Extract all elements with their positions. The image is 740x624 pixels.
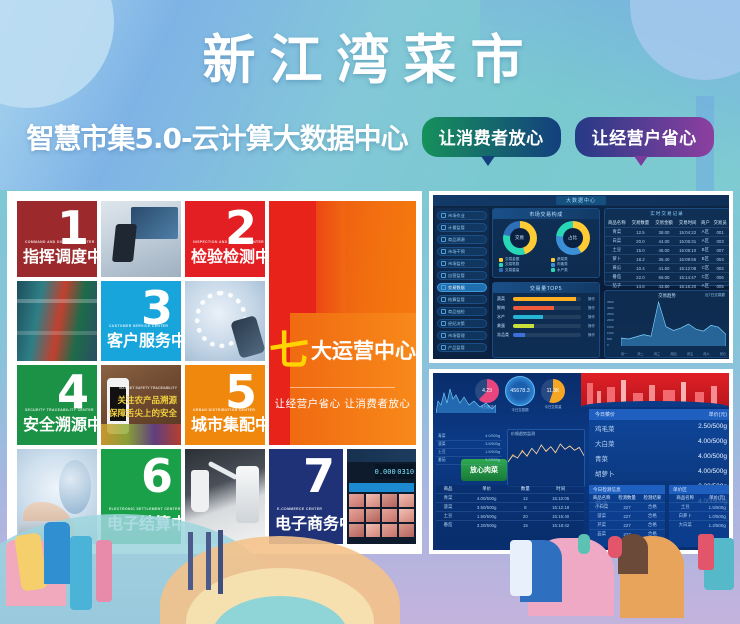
price-board: 今日菜价 单价(元) 鸡毛菜2.50/500g大白菜4.00/500g青菜4.0… (589, 409, 729, 481)
menu-label: 产品监管 (448, 345, 465, 351)
legend-swatch (551, 268, 555, 272)
table-cell: 38.00 (652, 228, 676, 237)
rank-row: 鲜肉操作 (497, 305, 595, 311)
photo-market-shelf (17, 281, 97, 361)
table-cell: 韭菜 (589, 530, 614, 539)
left-mini-chart (436, 379, 496, 429)
centers-board: 1 COMMAND AND DISPATCH CENTER 指挥调度中心 2 I… (7, 191, 422, 554)
tile-3-label: 客户服务中心 (107, 327, 177, 351)
table-cell: 002 (711, 264, 729, 273)
photo-qr-line2: 保障舌尖上的安全 (109, 407, 177, 419)
rank-row: 禽蛋操作 (497, 323, 595, 329)
check-table: 商品名称检测数量检测结果小白菜227合格菠菜227合格芹菜227合格韭菜227合… (589, 494, 665, 538)
legend-item: 水产类 (551, 268, 597, 273)
left-record-row: 菠菜3.50/500g815:12:18 (436, 503, 584, 512)
rank-bar-fill (513, 333, 525, 337)
menu-icon (441, 333, 446, 338)
check-row: 芹菜227合格 (589, 521, 665, 530)
table-cell: 20.0 (629, 237, 653, 246)
left-stat-name: 菠菜 (438, 442, 446, 447)
left-stat-value: 3.5/500g (485, 442, 500, 447)
column-header: 数量 (513, 485, 537, 494)
records-row: 茄子14.643.8015:16:20A区005 (605, 282, 729, 291)
menu-icon (441, 261, 446, 266)
tile-5-label: 城市集配中心 (191, 411, 261, 435)
table-cell: 005 (711, 282, 729, 291)
tile-7[interactable]: 7 E-COMMERCE CENTER 电子商务中心 (269, 449, 343, 544)
unit-row: 白萝卜1.0/500g (669, 512, 729, 521)
menu-label: 商品抽检 (448, 309, 465, 315)
table-cell: 15:04:22 (676, 228, 700, 237)
table-cell: 土豆 (669, 503, 701, 512)
table-cell: 青菜 (605, 228, 629, 237)
tile-5[interactable]: 5 URBAN DISTRIBUTION CENTER 城市集配中心 (185, 365, 265, 445)
table-cell: 番茄 (605, 273, 629, 282)
table-cell: 合格 (640, 521, 665, 530)
y-tick: 3500 (607, 300, 620, 304)
table-cell: 227 (614, 512, 639, 521)
donut-2-center: 占比 (563, 228, 583, 248)
dashboard-menu-item-9[interactable]: 商品抽检 (437, 307, 487, 316)
rank-bar (513, 324, 581, 328)
table-cell: 227 (614, 521, 639, 530)
table-cell: 15:09:55 (676, 255, 700, 264)
check-table-title: 今日检测信息 (589, 485, 665, 494)
badge-merchant: 让经营户省心 (575, 117, 714, 157)
dashboard-bottom-board: 4.23 今日客流 45678.3 今日交易额 11.3K 今日交易量 (429, 369, 733, 554)
table-cell: 66.00 (652, 273, 676, 282)
photo-qr-line1: 关注农产品溯源 (117, 394, 177, 406)
tile-1[interactable]: 1 COMMAND AND DISPATCH CENTER 指挥调度中心 (17, 201, 97, 277)
center-panel-title: 大运营中心 (311, 339, 416, 363)
rank-rows: 蔬菜操作鲜肉操作水产操作禽蛋操作冻品类操作 (493, 293, 599, 344)
table-cell: 3.20/500g (460, 521, 513, 530)
price-board-title: 今日菜价 (595, 411, 615, 418)
table-cell: B区 (699, 255, 711, 264)
area-chart-xaxis: 周一周二周三周四周五周六周日 (621, 352, 726, 356)
menu-icon (441, 225, 446, 230)
table-cell: A区 (699, 237, 711, 246)
table-cell: 15.0 (629, 246, 653, 255)
table-cell: 萝卜 (605, 255, 629, 264)
menu-label: 商品溯源 (448, 237, 465, 243)
table-cell: 合格 (640, 530, 665, 539)
legend-swatch (551, 263, 555, 267)
table-cell: 白菜 (605, 237, 629, 246)
badge-consumer: 让消费者放心 (422, 117, 561, 157)
table-cell: 14.6 (629, 282, 653, 291)
rank-bar-fill (513, 297, 576, 301)
records-table: 商品名称交易数量交易金额交易时间商户交易员青菜12.538.0015:04:22… (605, 219, 729, 290)
rank-row: 冻品类操作 (497, 332, 595, 338)
header: 新江湾菜市 智慧市集5.0-云计算大数据中心 让消费者放心 让经营户省心 (0, 0, 740, 190)
left-records-table: 商品单价数量时间青菜4.00/500g1215:10:05菠菜3.50/500g… (436, 485, 584, 529)
y-tick: 2000 (607, 318, 620, 322)
table-cell: 芹菜 (589, 521, 614, 530)
left-stat-row: 土豆1.5/500g (436, 449, 502, 457)
tile-6-label: 电子结算中心 (107, 510, 177, 534)
left-stat-value: 1.5/500g (485, 450, 500, 455)
table-cell: A区 (699, 228, 711, 237)
table-cell: 合格 (640, 512, 665, 521)
legend-swatch (499, 258, 503, 262)
dashboard-menu-item-3[interactable]: 商品溯源 (437, 235, 487, 244)
price-row: 青菜4.00/500g (589, 450, 729, 465)
table-cell: 菠菜 (436, 503, 460, 512)
menu-label: 市场管理 (448, 333, 465, 339)
rank-unit: 操作 (583, 333, 595, 338)
dashboard-menu-item-11[interactable]: 市场管理 (437, 331, 487, 340)
table-cell: 15:15:40 (537, 512, 584, 521)
rank-card-title: 交易量TOP5 (493, 283, 599, 293)
records-row: 萝卜18.236.4015:09:55B区004 (605, 255, 729, 264)
x-tick: 周日 (720, 352, 726, 356)
records-row: 番茄22.066.0015:14:47C区006 (605, 273, 729, 282)
table-cell: A区 (699, 282, 711, 291)
kpi-3: 11.3K 今日交易量 (541, 379, 565, 409)
unit-table-card: 单价区 商品名称单价(元)土豆1.5/500g白萝卜1.0/500g大白菜1.2… (669, 485, 729, 547)
menu-label: 结算监管 (448, 297, 465, 303)
table-cell: 12.5 (629, 228, 653, 237)
table-cell: 44.00 (652, 237, 676, 246)
dashboard-sidebar: 市场作业计量监管商品溯源市场干预市场监控自营监管交易数据结算监管商品抽检经纪决策… (435, 208, 489, 355)
table-cell: 1.50/500g (460, 512, 513, 521)
table-header-row: 商品单价数量时间 (436, 485, 584, 494)
photo-command-room (101, 201, 181, 277)
left-stat-row: 菠菜3.5/500g (436, 441, 502, 449)
y-tick: 2500 (607, 312, 620, 316)
rank-name: 禽蛋 (497, 323, 511, 329)
price-item-value: 2.50/500g (698, 423, 727, 433)
table-cell: 小白菜 (589, 503, 614, 512)
table-cell: 大白菜 (669, 521, 701, 530)
column-header: 交易金额 (652, 219, 676, 228)
table-cell: 15:18:42 (537, 521, 584, 530)
price-row: 大白菜4.00/500g (589, 435, 729, 450)
rank-bar (513, 315, 581, 319)
rank-bar (513, 306, 581, 310)
price-row: 胡萝卜4.00/500g (589, 465, 729, 480)
illustration-arc-2 (186, 568, 374, 624)
column-header: 交易时间 (676, 219, 700, 228)
center-panel-subtitle: 让经营户省心 让消费者放心 (269, 396, 416, 411)
poster-root: 新江湾菜市 智慧市集5.0-云计算大数据中心 让消费者放心 让经营户省心 1 C… (0, 0, 740, 624)
area-chart-title: 交易趋势 (658, 293, 676, 299)
menu-label: 市场作业 (448, 213, 465, 219)
table-cell: 18.2 (629, 255, 653, 264)
table-cell: 1.2/500g (701, 521, 729, 530)
table-header-row: 商品名称交易数量交易金额交易时间商户交易员 (605, 219, 729, 228)
check-row: 菠菜227合格 (589, 512, 665, 521)
rank-unit: 操作 (583, 297, 595, 302)
page-title: 新江湾菜市 (0, 18, 740, 94)
table-cell: 227 (614, 503, 639, 512)
page-subtitle: 智慧市集5.0-云计算大数据中心 (26, 117, 407, 157)
illustration-arc-3 (212, 596, 348, 624)
area-chart-yaxis: 3500300025002000150010005000 (607, 300, 620, 347)
kpi-2-value: 45678.3 (510, 388, 530, 394)
donut-chart-2: 占比 (556, 221, 590, 255)
rank-name: 蔬菜 (497, 296, 511, 302)
legend-label: 交易重量 (505, 268, 519, 273)
y-tick: 1000 (607, 331, 620, 335)
menu-icon (441, 345, 446, 350)
menu-label: 市场监控 (448, 261, 465, 267)
left-stat-value: 3.2/500g (485, 458, 500, 463)
dashboard-menu-item-10[interactable]: 经纪决策 (437, 319, 487, 328)
menu-label: 计量监管 (448, 225, 465, 231)
donut-legend-1: 交易金额交易笔数交易重量 (499, 257, 545, 273)
tile-1-label: 指挥调度中心 (23, 243, 93, 267)
table-cell: 土豆 (436, 512, 460, 521)
rank-unit: 操作 (583, 324, 595, 329)
table-cell: 白萝卜 (669, 512, 701, 521)
menu-icon (441, 321, 446, 326)
menu-label: 经纪决策 (448, 321, 465, 327)
table-cell: C区 (699, 273, 711, 282)
column-header: 交易数量 (629, 219, 653, 228)
menu-label: 市场干预 (448, 249, 465, 255)
kpi-2: 45678.3 今日交易额 (505, 376, 535, 412)
column-header: 时间 (537, 485, 584, 494)
table-cell: 10.4 (629, 264, 653, 273)
unit-row: 土豆1.5/500g (669, 503, 729, 512)
price-item-name: 胡萝卜 (595, 468, 615, 478)
table-cell: 12 (513, 494, 537, 503)
table-cell: 227 (614, 530, 639, 539)
table-cell: 3.50/500g (460, 503, 513, 512)
tile-2[interactable]: 2 INSPECTION AND TESTING CENTER 检验检测中心 (185, 201, 265, 277)
donut-chart-1: 交易 (503, 221, 537, 255)
pos-price: 0310 (397, 464, 414, 479)
skyline-banner (581, 373, 729, 407)
rank-bar-fill (513, 306, 554, 310)
dashboard-menu-item-8[interactable]: 结算监管 (437, 295, 487, 304)
check-row: 韭菜227合格 (589, 530, 665, 539)
records-row: 青菜12.538.0015:04:22A区001 (605, 228, 729, 237)
rank-name: 鲜肉 (497, 305, 511, 311)
dashboard-menu-item-1[interactable]: 市场作业 (437, 211, 487, 220)
table-cell: 青菜 (436, 494, 460, 503)
left-record-row: 土豆1.50/500g2015:15:40 (436, 512, 584, 521)
table-cell: 006 (711, 273, 729, 282)
tile-4-label: 安全溯源中心 (23, 411, 93, 435)
table-cell: 番茄 (436, 521, 460, 530)
dashboard-titlebar: 大数据中心 (433, 195, 729, 206)
rank-bar-fill (513, 324, 534, 328)
rank-row: 蔬菜操作 (497, 296, 595, 302)
rank-bar-fill (513, 315, 543, 319)
rank-bar (513, 297, 581, 301)
rank-card: 交易量TOP5 蔬菜操作鲜肉操作水产操作禽蛋操作冻品类操作 (492, 282, 600, 358)
y-tick: 3000 (607, 306, 620, 310)
column-header: 单价(元) (701, 494, 729, 503)
subtitle-row: 智慧市集5.0-云计算大数据中心 让消费者放心 让经营户省心 (0, 117, 740, 157)
price-item-name: 大白菜 (595, 438, 615, 448)
donut-1-center: 交易 (510, 228, 530, 248)
dashboard-menu-item-12[interactable]: 产品监管 (437, 343, 487, 352)
table-cell: 土豆 (605, 246, 629, 255)
unit-table: 商品名称单价(元)土豆1.5/500g白萝卜1.0/500g大白菜1.2/500… (669, 494, 729, 529)
table-cell: 45.00 (652, 246, 676, 255)
rank-bar (513, 333, 581, 337)
table-cell: 菠菜 (589, 512, 614, 521)
left-stat-name: 土豆 (438, 450, 446, 455)
column-header: 单价 (460, 485, 513, 494)
dashboard-menu-item-2[interactable]: 计量监管 (437, 223, 487, 232)
dashboard-bottom-screen: 4.23 今日客流 45678.3 今日交易额 11.3K 今日交易量 (433, 373, 729, 550)
tile-7-number: 7 (303, 453, 335, 499)
photo-traceability-qr: MARKET SAFETY TRACEABILITY 关注农产品溯源 保障舌尖上… (101, 365, 181, 445)
table-header-row: 商品名称单价(元) (669, 494, 729, 503)
left-records-card: 商品单价数量时间青菜4.00/500g1215:10:05菠菜3.50/500g… (436, 485, 584, 547)
center-panel-divider (290, 387, 396, 388)
kpi-2-label: 今日交易额 (505, 407, 535, 412)
left-stat-name: 青菜 (438, 434, 446, 439)
column-header: 交易员 (711, 219, 729, 228)
table-cell: 003 (711, 237, 729, 246)
price-board-header: 今日菜价 单价(元) (589, 409, 729, 420)
area-chart-svg (621, 300, 726, 346)
records-row: 白菜20.044.0015:06:31A区003 (605, 237, 729, 246)
menu-icon (441, 213, 446, 218)
table-cell: 41.60 (652, 264, 676, 273)
price-item-value: 4.00/500g (698, 438, 727, 448)
records-row: 土豆15.045.0015:08:10B区007 (605, 246, 729, 255)
table-cell: 8 (513, 503, 537, 512)
column-header: 检测结果 (640, 494, 665, 503)
table-cell: 黄瓜 (605, 264, 629, 273)
tile-2-label: 检验检测中心 (191, 243, 261, 267)
unit-row: 大白菜1.2/500g (669, 521, 729, 530)
table-cell: 1.5/500g (701, 503, 729, 512)
records-card: 实时交易记录 商品名称交易数量交易金额交易时间商户交易员青菜12.538.001… (604, 208, 729, 286)
donut-card: 市场交易构成 交易 占比 交易金额交易笔数交易重量 蔬菜类肉禽类水产类 (492, 208, 600, 278)
table-cell: 4.00/500g (460, 494, 513, 503)
menu-icon (441, 249, 446, 254)
tile-3[interactable]: 3 CUSTOMER SERVICE CENTER 客户服务中心 (101, 281, 181, 361)
pos-weight: 0.000 (375, 464, 396, 479)
table-cell: C区 (699, 264, 711, 273)
centers-grid: 1 COMMAND AND DISPATCH CENTER 指挥调度中心 2 I… (13, 197, 416, 548)
table-cell: 合格 (640, 503, 665, 512)
area-chart-card: 交易趋势 近7日交易额 3500300025002000150010005000… (604, 290, 729, 358)
table-cell: 22.0 (629, 273, 653, 282)
column-header: 商品名称 (589, 494, 614, 503)
kpi-3-value: 11.3K (547, 388, 560, 394)
menu-label: 交易数据 (448, 285, 465, 291)
unit-table-title: 单价区 (669, 485, 729, 494)
legend-label: 水产类 (557, 268, 568, 273)
price-item-value: 4.00/500g (698, 468, 727, 478)
table-cell: 36.40 (652, 255, 676, 264)
photo-iot-network (185, 281, 265, 361)
menu-icon (441, 309, 446, 314)
dashboard-body: 市场交易构成 交易 占比 交易金额交易笔数交易重量 蔬菜类肉禽类水产类 (492, 208, 726, 355)
table-cell: 15:10:05 (537, 494, 584, 503)
tile-4[interactable]: 4 SECURITY TRACEABILITY CENTER 安全溯源中心 (17, 365, 97, 445)
x-tick: 周三 (654, 352, 660, 356)
table-cell: 15:06:31 (676, 237, 700, 246)
records-row: 黄瓜10.441.6015:12:08C区002 (605, 264, 729, 273)
dashboard-window-title: 大数据中心 (556, 196, 606, 205)
x-tick: 周五 (687, 352, 693, 356)
donut-legend-2: 蔬菜类肉禽类水产类 (551, 257, 597, 273)
check-row: 小白菜227合格 (589, 503, 665, 512)
table-cell: 15 (513, 521, 537, 530)
dashboard-menu-item-7[interactable]: 交易数据 (437, 283, 487, 292)
kpi-3-label: 今日交易量 (541, 404, 565, 409)
rank-unit: 操作 (583, 315, 595, 320)
column-header: 商品名称 (605, 219, 629, 228)
price-item-name: 青菜 (595, 453, 608, 463)
table-cell: B区 (699, 246, 711, 255)
table-cell: 001 (711, 228, 729, 237)
column-header: 商品 (436, 485, 460, 494)
x-tick: 周二 (637, 352, 643, 356)
records-card-title: 实时交易记录 (605, 209, 729, 219)
left-stats: 青菜4.0/500g菠菜3.5/500g土豆1.5/500g番茄3.2/500g (436, 433, 502, 481)
photo-ecommerce-people (17, 449, 97, 544)
price-board-unit: 单价(元) (709, 411, 727, 418)
column-header: 商品名称 (669, 494, 701, 503)
legend-swatch (499, 268, 503, 272)
legend-swatch (499, 263, 503, 267)
menu-label: 自营监管 (448, 273, 465, 279)
legend-swatch (551, 258, 555, 262)
tile-7-label: 电子商务中心 (275, 510, 339, 534)
rank-row: 水产操作 (497, 314, 595, 320)
dashboard-menu-item-6[interactable]: 自营监管 (437, 271, 487, 280)
area-chart-legend: 近7日交易额 (705, 293, 725, 298)
menu-icon (441, 297, 446, 302)
dashboard-menu-item-5[interactable]: 市场监控 (437, 259, 487, 268)
left-record-row: 番茄3.20/500g1515:18:42 (436, 521, 584, 530)
left-stat-row: 番茄3.2/500g (436, 457, 502, 465)
column-header: 检测数量 (614, 494, 639, 503)
table-header-row: 商品名称检测数量检测结果 (589, 494, 665, 503)
x-tick: 周四 (670, 352, 676, 356)
table-cell: 15:12:18 (537, 503, 584, 512)
trend-chart: 价格趋势监测 (507, 429, 585, 487)
table-cell: 15:08:10 (676, 246, 700, 255)
center-panel-number: 七 (269, 328, 309, 374)
left-stat-row: 青菜4.0/500g (436, 433, 502, 441)
table-cell: 43.80 (652, 282, 676, 291)
menu-icon (441, 285, 446, 290)
table-cell: 15:16:20 (676, 282, 700, 291)
trend-chart-title: 价格趋势监测 (508, 430, 584, 438)
left-stat-name: 番茄 (438, 458, 446, 463)
price-row: 鸡毛菜2.50/500g (589, 420, 729, 435)
x-tick: 周六 (703, 352, 709, 356)
tile-6[interactable]: 6 ELECTRONIC SETTLEMENT CENTER 电子结算中心 (101, 449, 181, 544)
column-header: 商户 (699, 219, 711, 228)
check-table-card: 今日检测信息 商品名称检测数量检测结果小白菜227合格菠菜227合格芹菜227合… (589, 485, 665, 547)
y-tick: 500 (607, 337, 620, 341)
menu-icon (441, 273, 446, 278)
rank-unit: 操作 (583, 306, 595, 311)
menu-icon (441, 237, 446, 242)
rank-name: 冻品类 (497, 332, 511, 338)
donut-card-title: 市场交易构成 (493, 209, 599, 219)
table-cell: 茄子 (605, 282, 629, 291)
table-cell: 15:14:47 (676, 273, 700, 282)
dashboard-menu-item-4[interactable]: 市场干预 (437, 247, 487, 256)
rank-name: 水产 (497, 314, 511, 320)
left-record-row: 青菜4.00/500g1215:10:05 (436, 494, 584, 503)
price-item-name: 鸡毛菜 (595, 423, 615, 433)
